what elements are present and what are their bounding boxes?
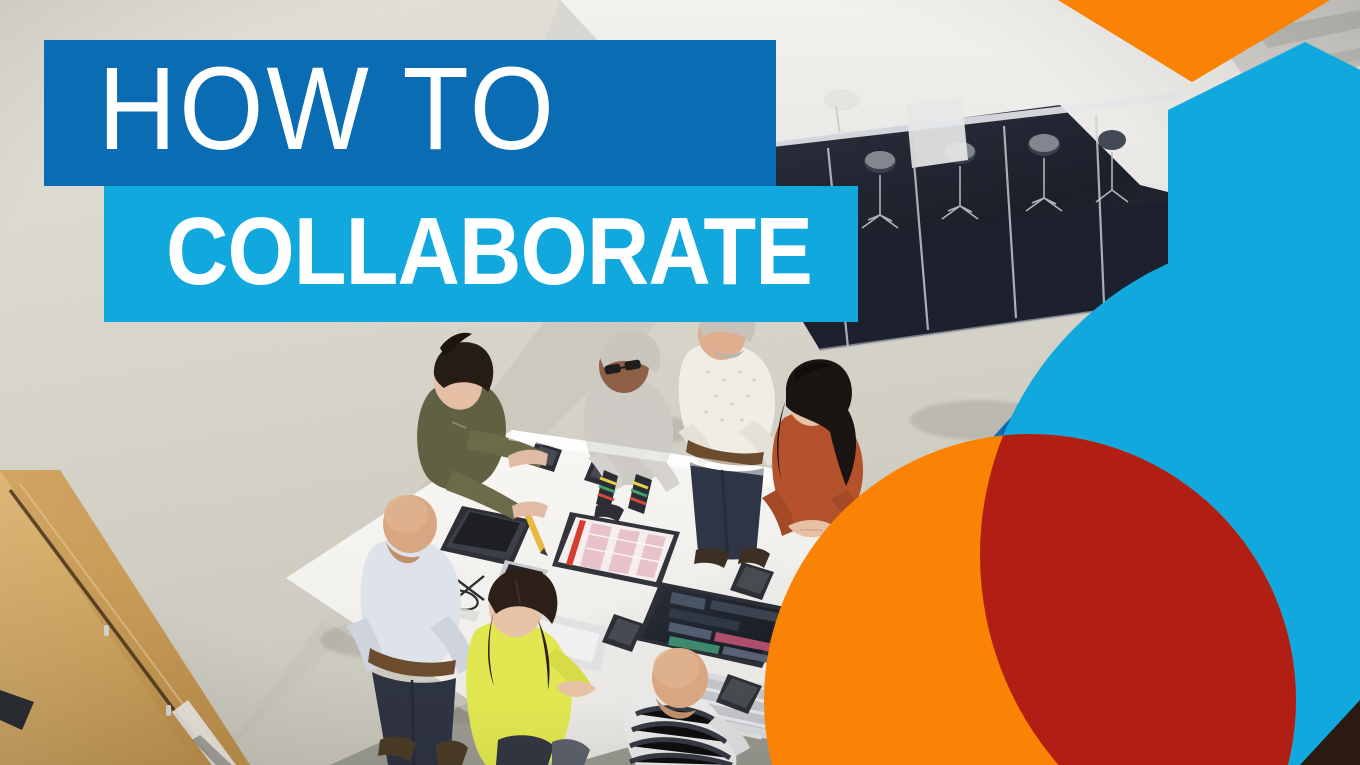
title-banner-top: HOW TO [44, 40, 776, 186]
slide-canvas: HOW TO COLLABORATE [0, 0, 1360, 765]
page-title-line-2: COLLABORATE [166, 213, 812, 292]
page-title-line-1: HOW TO [98, 60, 557, 159]
title-banner-bottom: COLLABORATE [104, 186, 858, 322]
